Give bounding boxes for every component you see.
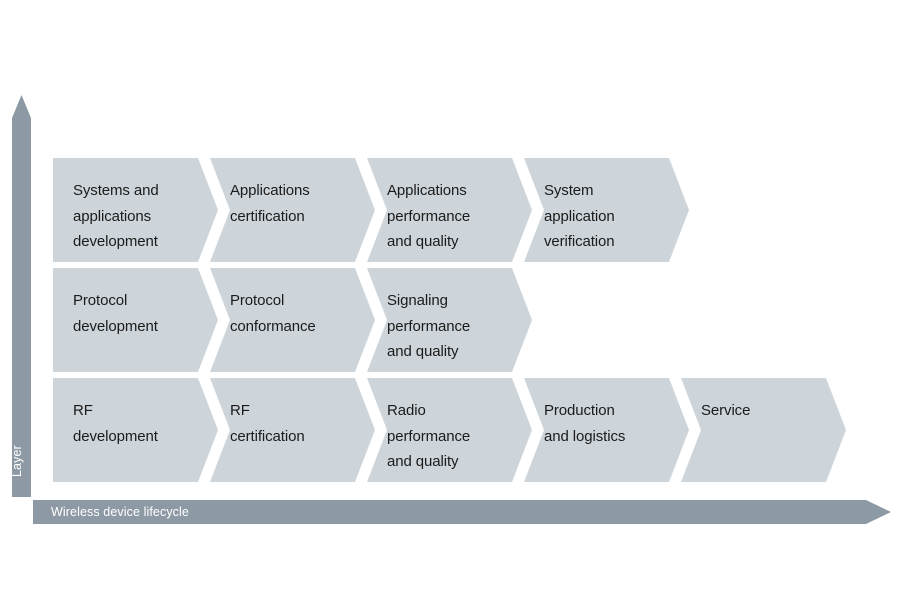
stage-service[interactable]: Service [681,378,846,482]
wireless-device-lifecycle-diagram: Layer Wireless device lifecycle Systems … [0,0,900,600]
stage-label: Protocol conformance [230,288,365,339]
stage-rf-certification[interactable]: RF certification [210,378,375,482]
stage-label: Radio performance and quality [387,398,522,475]
layer-axis-label: Layer [10,417,24,477]
stage-radio-performance-and-quality[interactable]: Radio performance and quality [367,378,532,482]
stage-label: RF certification [230,398,365,449]
stage-label: Applications performance and quality [387,178,522,255]
stage-signaling-performance-and-quality[interactable]: Signaling performance and quality [367,268,532,372]
stage-systems-and-applications-development[interactable]: Systems and applications development [53,158,218,262]
stage-label: RF development [73,398,208,449]
stage-label: Service [701,398,836,424]
stage-applications-certification[interactable]: Applications certification [210,158,375,262]
stage-label: Signaling performance and quality [387,288,522,365]
stage-system-application-verification[interactable]: System application verification [524,158,689,262]
stage-label: Protocol development [73,288,208,339]
stage-label: Production and logistics [544,398,679,449]
stage-label: Systems and applications development [73,178,208,255]
stage-rf-development[interactable]: RF development [53,378,218,482]
stage-label: Applications certification [230,178,365,229]
stage-protocol-development[interactable]: Protocol development [53,268,218,372]
stage-applications-performance-and-quality[interactable]: Applications performance and quality [367,158,532,262]
stage-protocol-conformance[interactable]: Protocol conformance [210,268,375,372]
stage-label: System application verification [544,178,679,255]
stage-production-and-logistics[interactable]: Production and logistics [524,378,689,482]
lifecycle-axis-label: Wireless device lifecycle [51,505,189,519]
